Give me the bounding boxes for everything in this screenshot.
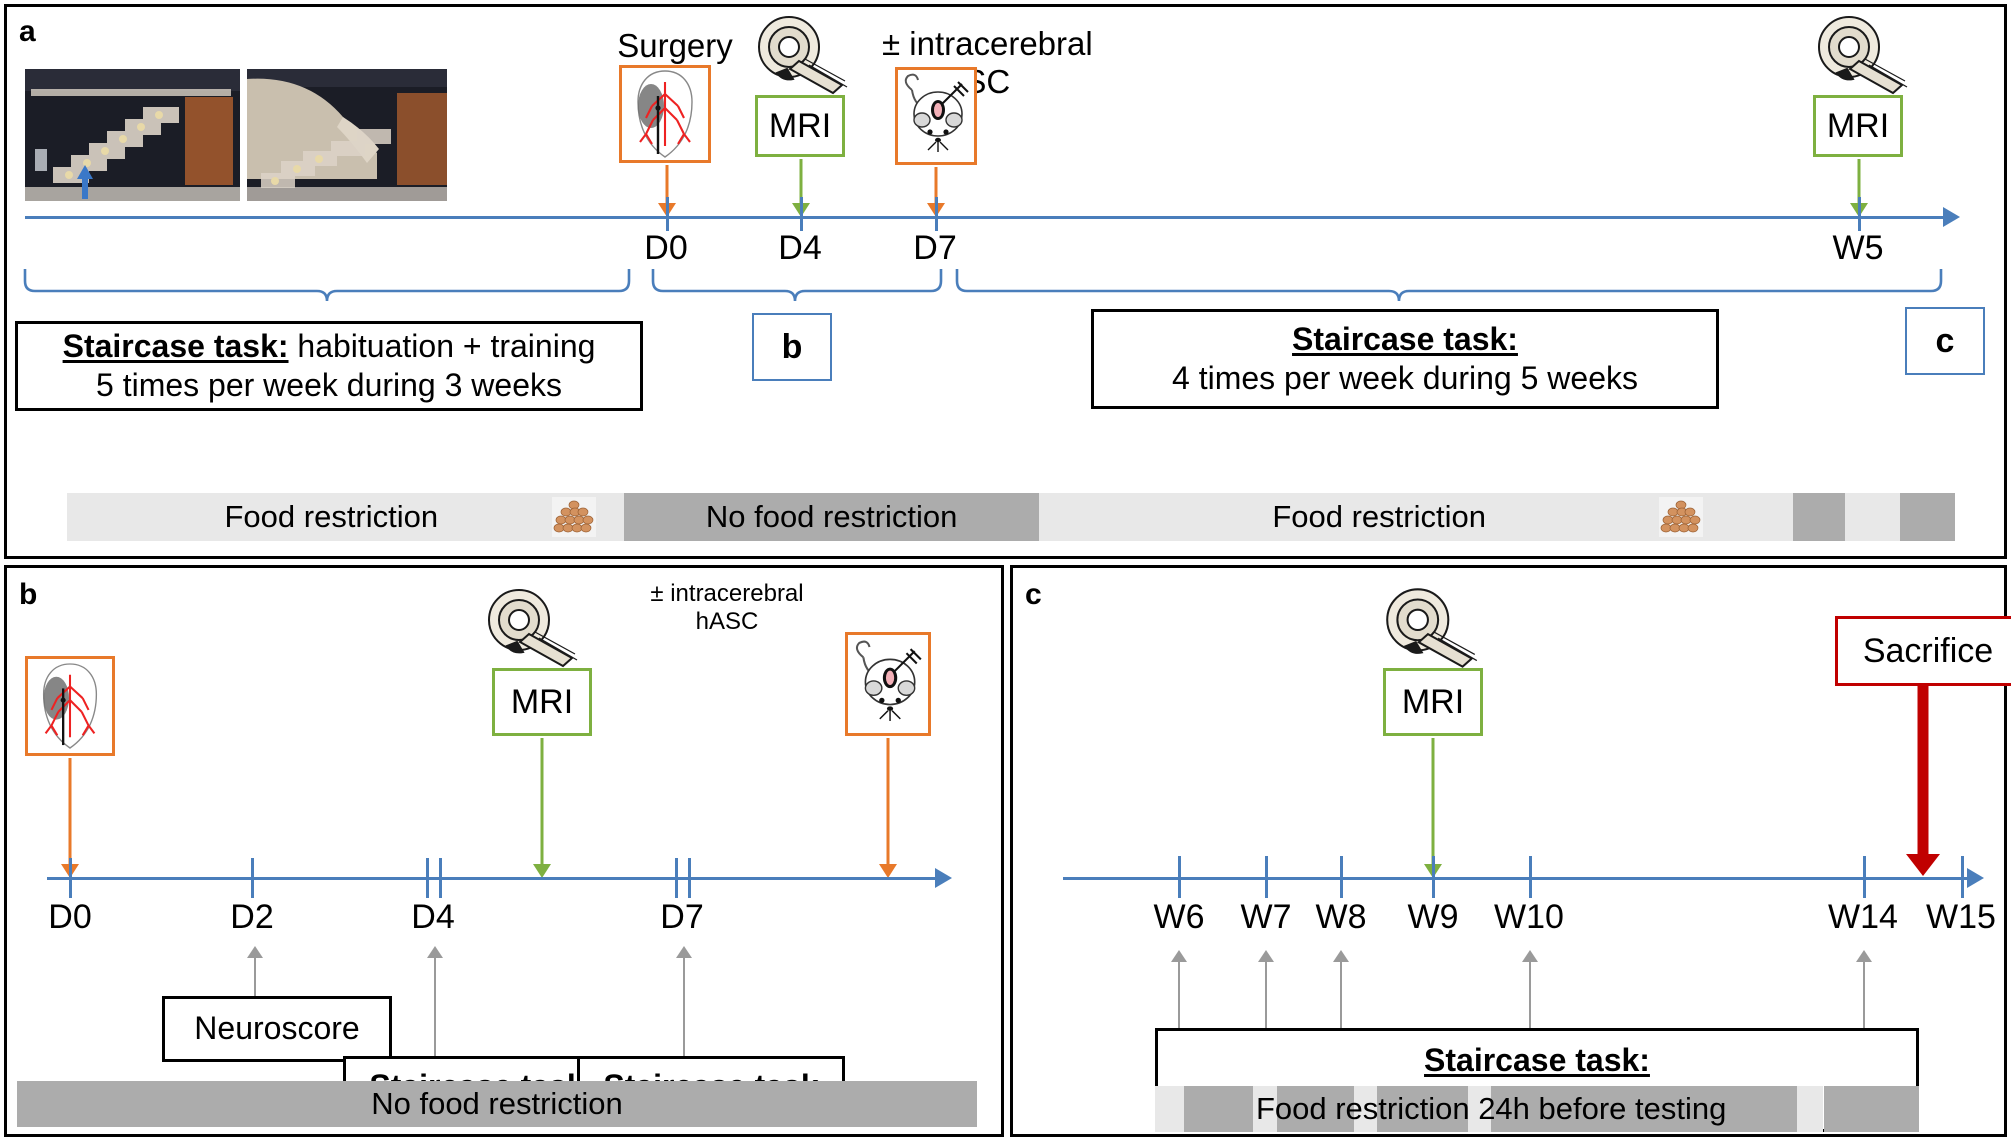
mri-scanner-icon-b (477, 588, 587, 668)
panel-b: b ± intracerebral hASC (4, 565, 1004, 1137)
food-restriction-bar-c: Food restriction 24h before testing (1155, 1086, 1919, 1132)
staircase-w8-up-arrow (1332, 950, 1350, 1036)
staircase-w14-up-arrow (1855, 950, 1873, 1036)
timeline-axis-c (1063, 877, 1969, 880)
panel-c: c MRI Sacrifice (1010, 565, 2007, 1137)
ref-box-b-label: b (782, 328, 803, 367)
mri-label-a2: MRI (1827, 107, 1889, 146)
neuroscore-up-arrow (246, 946, 264, 998)
mri-scanner-icon-c (1375, 586, 1487, 670)
intracerebral-line1-b: ± intracerebral (650, 580, 803, 607)
mri-box-a1: MRI (755, 95, 845, 157)
mouse-intracerebral-injection-icon-b (849, 636, 927, 732)
tick-b-d2 (251, 858, 254, 898)
neuroscore-box: Neuroscore (162, 996, 392, 1062)
food-seg-a-4 (1793, 493, 1846, 541)
staircase-w10-up-arrow (1521, 950, 1539, 1036)
tick-label-a-w5: W5 (1818, 229, 1898, 268)
food-pellets-icon-a1 (552, 497, 596, 537)
ref-box-b[interactable]: b (752, 313, 832, 381)
tick-label-c-w8: W8 (1298, 898, 1384, 937)
rat-reaching-photo (247, 69, 447, 201)
food-label-b-1: No food restriction (17, 1081, 977, 1127)
staircase-habituation-line2: 5 times per week during 3 weeks (96, 366, 562, 405)
tick-label-c-w10: W10 (1479, 898, 1579, 937)
tick-b-d0 (69, 858, 72, 898)
tick-label-b-d4: D4 (393, 898, 473, 937)
tick-b-d4 (426, 858, 429, 898)
mri-label-c: MRI (1402, 683, 1464, 722)
staircase-testing-box: Staircase task: 4 times per week during … (1091, 309, 1719, 409)
tick-label-c-w6: W6 (1136, 898, 1222, 937)
food-label-a-3: Food restriction (1039, 493, 1719, 541)
sacrifice-arrow-c (1903, 686, 1943, 876)
food-label-a-2: No food restriction (624, 493, 1039, 541)
tick-a-w5 (1858, 197, 1861, 231)
food-seg-c-10 (1824, 1086, 1920, 1132)
staircase-habituation-title: Staircase task: (63, 328, 289, 364)
mri-label-a1: MRI (769, 107, 831, 146)
timeline-arrowhead-a (1943, 207, 1960, 227)
staircase-habituation-detail: habituation + training (297, 328, 595, 364)
staircase-testing-title: Staircase task: (1292, 320, 1518, 359)
panel-b-letter: b (19, 578, 37, 612)
mri-scanner-icon-a1 (747, 15, 857, 95)
food-restriction-bar-a: Food restriction No food restriction Foo… (67, 493, 1955, 541)
tick-c-w8 (1340, 856, 1343, 898)
tick-a-d7 (935, 197, 938, 231)
staircase-w7-up-arrow (1257, 950, 1275, 1036)
brace-habituation (21, 265, 641, 311)
staircase-apparatus-photo (25, 69, 240, 201)
tick-c-w6 (1178, 856, 1181, 898)
brace-c-region (953, 265, 1949, 311)
intracerebral-line1: ± intracerebral (882, 25, 1093, 62)
tick-c-w15 (1961, 856, 1964, 898)
ref-box-c-label: c (1936, 322, 1955, 361)
tick-label-b-d0: D0 (30, 898, 110, 937)
food-seg-a-6 (1900, 493, 1955, 541)
panel-a-letter: a (19, 15, 36, 49)
sacrifice-box: Sacrifice (1835, 616, 2011, 686)
tick-label-b-d2: D2 (212, 898, 292, 937)
brain-vasculature-icon-b (28, 659, 112, 753)
food-restriction-bar-b: No food restriction (17, 1081, 977, 1127)
hasc-arrow-b (878, 738, 898, 878)
mri-box-b: MRI (492, 668, 592, 736)
neuroscore-label: Neuroscore (194, 1009, 359, 1048)
staircase-weekly-title: Staircase task: (1424, 1041, 1650, 1080)
figure-root: a (0, 0, 2011, 1141)
tick-a-d0 (666, 197, 669, 231)
food-label-a-1: Food restriction (105, 493, 558, 541)
staircase-d7-up-arrow (675, 946, 693, 1058)
mri-arrow-b (532, 738, 552, 878)
staircase-testing-line2: 4 times per week during 5 weeks (1172, 359, 1638, 398)
food-seg-a-5 (1845, 493, 1900, 541)
intracerebral-hasc-label-b: ± intracerebral hASC (607, 580, 847, 635)
tick-label-a-d7: D7 (895, 229, 975, 268)
timeline-axis-b (47, 877, 937, 880)
tick-label-c-w9: W9 (1390, 898, 1476, 937)
tick-label-c-w15: W15 (1911, 898, 2011, 937)
mri-label-b: MRI (511, 683, 573, 722)
food-pellets-icon-a2 (1659, 497, 1703, 537)
sacrifice-label: Sacrifice (1863, 632, 1993, 671)
tick-label-a-d4: D4 (760, 229, 840, 268)
tick-label-c-w7: W7 (1223, 898, 1309, 937)
mri-scanner-icon-a2 (1807, 15, 1917, 95)
mri-box-c: MRI (1383, 668, 1483, 736)
brain-vasculature-icon-box-b (25, 656, 115, 756)
brain-vasculature-icon-box-a (619, 65, 711, 163)
staircase-d4-up-arrow (426, 946, 444, 1058)
timeline-arrowhead-c (1967, 868, 1984, 888)
tick-c-w7 (1265, 856, 1268, 898)
tick-a-d4 (800, 197, 803, 231)
tick-b-d7b (688, 858, 691, 898)
ref-box-c[interactable]: c (1905, 307, 1985, 375)
staircase-habituation-box: Staircase task: habituation + training 5… (15, 321, 643, 411)
tick-c-w14 (1863, 856, 1866, 898)
timeline-axis-a (25, 216, 1945, 219)
timeline-arrowhead-b (935, 868, 952, 888)
tick-label-b-d7: D7 (642, 898, 722, 937)
panel-c-letter: c (1025, 578, 1042, 612)
tick-label-a-d0: D0 (626, 229, 706, 268)
tick-c-w9 (1432, 856, 1435, 898)
mri-box-a2: MRI (1813, 95, 1903, 157)
staircase-w6-up-arrow (1170, 950, 1188, 1036)
panel-a: a (4, 4, 2007, 559)
tick-b-d7 (675, 858, 678, 898)
food-label-c: Food restriction 24h before testing (1155, 1086, 1827, 1132)
hasc-line2-b: hASC (696, 608, 759, 635)
mouse-intracerebral-injection-icon (898, 70, 974, 162)
mouse-injection-icon-box-b (845, 632, 931, 736)
surgery-label: Surgery (585, 27, 765, 65)
tick-b-d4b (439, 858, 442, 898)
brace-b-region (649, 265, 949, 311)
tick-c-w10 (1529, 856, 1532, 898)
mouse-injection-icon-box-a (895, 67, 977, 165)
brain-vasculature-icon (622, 68, 708, 160)
tick-label-c-w14: W14 (1813, 898, 1913, 937)
